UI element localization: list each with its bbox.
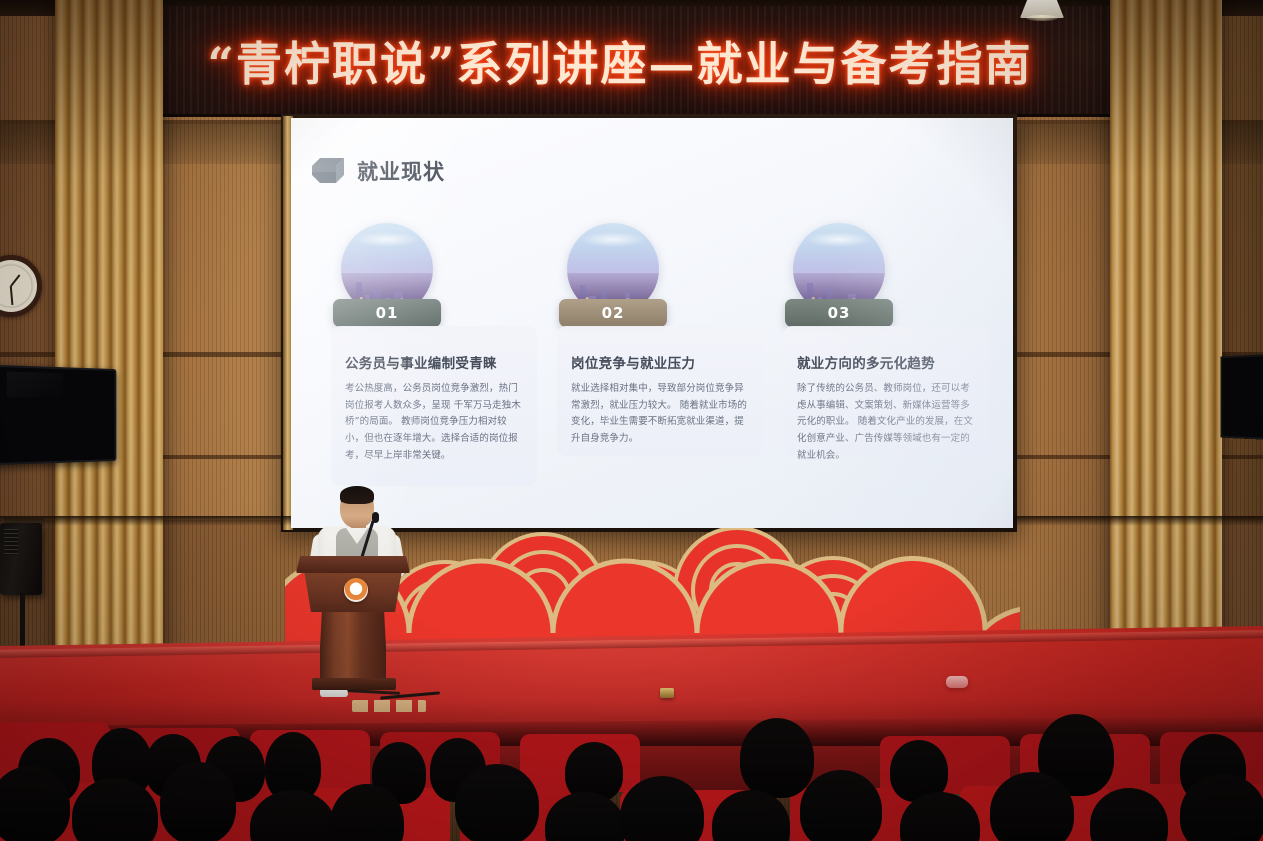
stage-curtain-left <box>55 0 163 690</box>
auditorium-photo: “青柠职说”系列讲座—就业与备考指南 就业现状 <box>0 0 1263 841</box>
slide-header: 就业现状 <box>311 156 445 186</box>
slide-image-01: 01 <box>337 223 437 323</box>
slide-card-02: 岗位竞争与就业压力 就业选择相对集中，导致部分岗位竞争异常激烈，就业压力较大。 … <box>557 326 763 456</box>
slide-card-03: 就业方向的多元化趋势 除了传统的公务员、教师岗位，还可以考虑从事编辑、文案策划、… <box>783 326 989 456</box>
cloud-wisp <box>580 232 646 247</box>
card-body-03: 除了传统的公务员、教师岗位，还可以考虑从事编辑、文案策划、新媒体运营等多元化的职… <box>797 381 975 464</box>
audience-head <box>160 762 236 841</box>
clock-ticks <box>0 263 34 309</box>
badge-number-02: 02 <box>559 299 667 327</box>
cube-icon <box>311 156 345 186</box>
slide-title: 就业现状 <box>357 156 445 186</box>
slide-image-row: 01 02 <box>291 223 1013 323</box>
card-heading-03: 就业方向的多元化趋势 <box>797 352 975 372</box>
speaker-grill <box>4 529 18 555</box>
stage-curtain-right <box>1110 0 1222 700</box>
water-bottle-on-floor <box>946 676 968 688</box>
card-heading-02: 岗位竞争与就业压力 <box>571 352 749 372</box>
podium-desktop <box>296 556 410 573</box>
pendant-lamp-icon <box>1020 0 1064 22</box>
wall-mounted-tv-right <box>1221 354 1263 441</box>
badge-number-03: 03 <box>785 299 893 327</box>
presenter-hair <box>340 486 374 504</box>
wall-mounted-tv-left <box>0 365 116 466</box>
slide-card-01: 公务员与事业编制受青睐 考公热度高，公务员岗位竞争激烈，热门岗位报考人数众多，呈… <box>331 326 537 486</box>
speaking-podium <box>296 556 410 688</box>
slide-card-row: 公务员与事业编制受青睐 考公热度高，公务员岗位竞争激烈，热门岗位报考人数众多，呈… <box>291 326 1013 506</box>
lamp-glow <box>1026 15 1058 21</box>
audience-head <box>1180 774 1263 841</box>
cloud-wisp <box>806 232 872 247</box>
slide-image-02: 02 <box>563 223 663 323</box>
audience-head <box>455 764 539 841</box>
presentation-slide: 就业现状 01 <box>291 118 1013 528</box>
audience-head <box>740 718 814 798</box>
audience-head <box>620 776 704 841</box>
microphone-icon <box>372 512 379 523</box>
gold-object-on-floor <box>660 688 674 698</box>
podium-crest-icon <box>344 578 368 602</box>
slide-image-03: 03 <box>789 223 889 323</box>
audience-head <box>800 770 882 841</box>
card-heading-01: 公务员与事业编制受青睐 <box>345 352 523 372</box>
card-body-01: 考公热度高，公务员岗位竞争激烈，热门岗位报考人数众多，呈现 千军万马走独木桥”的… <box>345 381 523 464</box>
podium-base <box>312 678 396 690</box>
badge-number-01: 01 <box>333 299 441 327</box>
pa-speaker-icon <box>0 523 42 595</box>
podium-column <box>320 610 386 684</box>
card-body-02: 就业选择相对集中，导致部分岗位竞争异常激烈，就业压力较大。 随着就业市场的变化，… <box>571 381 749 448</box>
audience-area <box>0 700 1263 841</box>
banner-title: “青柠职说”系列讲座—就业与备考指南 <box>120 26 1120 96</box>
cloud-wisp <box>354 232 420 247</box>
